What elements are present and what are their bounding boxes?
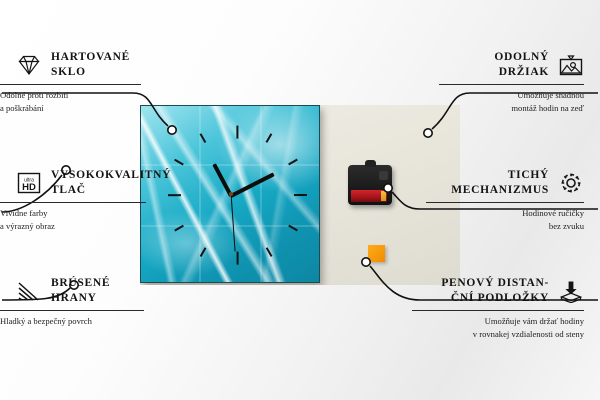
feature-title: ODOLNÝ DRŽIAK (494, 50, 549, 80)
feature-description: Vivídne farby a výrazný obraz (0, 207, 146, 232)
feature-description-line2: bez zvuku (442, 220, 584, 232)
feature-title-line2: DRŽIAK (494, 65, 549, 80)
feature-title-line1: VYSOKOKVALITNÝ (51, 168, 171, 183)
feature-title-line2: SKLO (51, 65, 130, 80)
feature-title-line2: ČNÍ PODLOŽKY (441, 291, 549, 306)
feature-title-line1: TICHÝ (451, 168, 549, 183)
feature-title: TICHÝ MECHANIZMUS (451, 168, 549, 198)
wall-hanger-icon (558, 53, 584, 77)
feature-divider (0, 202, 146, 203)
feature-divider (412, 310, 584, 311)
feature-title-line2: MECHANIZMUS (451, 183, 549, 198)
feature-foam-spacers: PENOVÝ DISTAN- ČNÍ PODLOŽKY Umožňuje vám… (428, 276, 584, 340)
clock-tick (294, 194, 307, 196)
clock-center-hub (229, 192, 233, 196)
feature-heading: HARTOVANÉ SKLO (16, 50, 141, 80)
feature-divider (426, 202, 584, 203)
gear-icon (558, 171, 584, 195)
product-photo (140, 105, 460, 285)
feature-title-line1: HARTOVANÉ (51, 50, 130, 65)
clock-mechanism (348, 165, 392, 205)
feature-description-line1: Odolné proti rozbití (0, 89, 141, 101)
feature-title: BRÚSENÉ HRANY (51, 276, 110, 306)
mechanism-hanger-tab (365, 160, 376, 167)
foam-spacer-pad (368, 245, 385, 262)
feature-heading: ODOLNÝ DRŽIAK (455, 50, 584, 80)
feature-polished-edges: BRÚSENÉ HRANY Hladký a bezpečný povrch (16, 276, 144, 328)
feature-description: Umožňuje vám držať hodiny v rovnakej vzd… (428, 315, 584, 340)
feature-divider (0, 84, 141, 85)
diamond-icon (16, 53, 42, 77)
feature-description: Umožňuje snadnou montáž hodin na zeď (455, 89, 584, 114)
feature-description-line1: Hladký a bezpečný povrch (0, 315, 144, 327)
polished-edges-icon (16, 279, 42, 303)
battery (351, 190, 387, 202)
feature-description-line2: a poškrábání (0, 102, 141, 114)
ultra-hd-icon-large-text: HD (22, 182, 36, 193)
mechanism-knob (379, 171, 388, 180)
feature-high-quality-print: ultra HD VYSOKOKVALITNÝ TLAČ Vivídne far… (16, 168, 146, 232)
feature-description-line2: montáž hodin na zeď (455, 102, 584, 114)
feature-title-line2: TLAČ (51, 183, 171, 198)
clock-tick (236, 252, 238, 265)
feature-heading: ultra HD VYSOKOKVALITNÝ TLAČ (16, 168, 146, 198)
feature-title-line2: HRANY (51, 291, 110, 306)
foam-spacer-icon (558, 279, 584, 303)
feature-description-line2: a výrazný obraz (0, 220, 146, 232)
ultra-hd-icon: ultra HD (16, 171, 42, 195)
feature-divider (439, 84, 584, 85)
feature-heading: TICHÝ MECHANIZMUS (442, 168, 584, 198)
clock-tick (236, 126, 238, 139)
feature-silent-mechanism: TICHÝ MECHANIZMUS Hodinové ručičky bez z… (442, 168, 584, 232)
feature-heading: PENOVÝ DISTAN- ČNÍ PODLOŽKY (428, 276, 584, 306)
feature-durable-hanger: ODOLNÝ DRŽIAK Umožňuje snadnou montáž ho… (455, 50, 584, 114)
feature-description: Odolné proti rozbití a poškrábání (0, 89, 141, 114)
feature-heading: BRÚSENÉ HRANY (16, 276, 144, 306)
feature-title-line1: ODOLNÝ (494, 50, 549, 65)
feature-description-line1: Hodinové ručičky (442, 207, 584, 219)
feature-title: VYSOKOKVALITNÝ TLAČ (51, 168, 171, 198)
feature-description-line1: Umožňuje vám držať hodiny (428, 315, 584, 327)
feature-title: PENOVÝ DISTAN- ČNÍ PODLOŽKY (441, 276, 549, 306)
feature-description: Hladký a bezpečný povrch (0, 315, 144, 327)
feature-description-line1: Umožňuje snadnou (455, 89, 584, 101)
feature-description-line2: v rovnakej vzdialenosti od steny (428, 328, 584, 340)
feature-title-line1: BRÚSENÉ (51, 276, 110, 291)
feature-hardened-glass: HARTOVANÉ SKLO Odolné proti rozbití a po… (16, 50, 141, 114)
infographic-canvas: HARTOVANÉ SKLO Odolné proti rozbití a po… (0, 0, 600, 400)
feature-title: HARTOVANÉ SKLO (51, 50, 130, 80)
feature-divider (0, 310, 144, 311)
feature-description: Hodinové ručičky bez zvuku (442, 207, 584, 232)
feature-description-line1: Vivídne farby (0, 207, 146, 219)
feature-title-line1: PENOVÝ DISTAN- (441, 276, 549, 291)
